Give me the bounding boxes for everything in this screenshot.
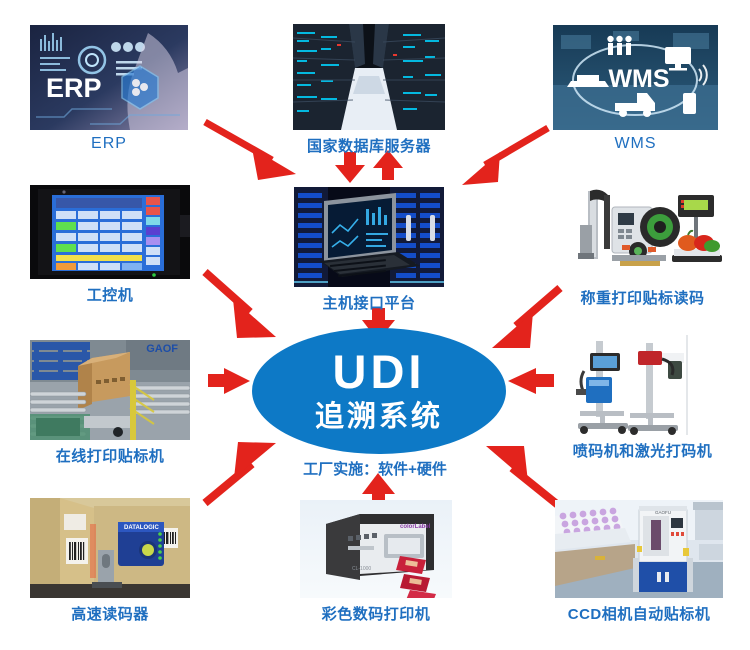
node-ccd-labeler-label: CCD相机自动贴标机: [568, 603, 711, 624]
arrow-coder-to-udi: [508, 368, 554, 394]
node-host-interface-label: 主机接口平台: [322, 292, 415, 313]
node-erp-label: ERP: [91, 135, 127, 153]
arrow-erp-to-host: [205, 122, 296, 180]
ccd-labeler-image: GAOFU: [555, 500, 723, 598]
laser-coder-image: [560, 335, 725, 435]
svg-text:GAOF: GAOF: [146, 343, 178, 355]
node-national-db-label: 国家数据库服务器: [307, 135, 431, 156]
arrow-wms-to-host: [462, 128, 548, 185]
node-industrial-pc-label: 工控机: [87, 284, 134, 305]
udi-title: UDI: [333, 348, 426, 395]
node-weigh-print-label-label: 称重打印贴标读码: [580, 287, 704, 308]
node-color-printer[interactable]: colorLabel CL-1000 彩色数码打印机: [300, 500, 452, 598]
node-laser-coder-label: 喷码机和激光打码机: [573, 440, 713, 461]
arrow-labeler-to-udi: [208, 368, 250, 394]
svg-text:CL-1000: CL-1000: [352, 566, 371, 572]
udi-subtitle: 追溯系统: [315, 403, 443, 432]
node-national-db[interactable]: 国家数据库服务器: [293, 24, 445, 130]
udi-ellipse: UDI 追溯系统: [252, 328, 506, 454]
node-host-interface[interactable]: 主机接口平台: [294, 187, 444, 287]
node-color-printer-label: 彩色数码打印机: [322, 603, 431, 624]
svg-text:ERP: ERP: [46, 73, 102, 103]
node-wms[interactable]: WMS WMS: [553, 25, 718, 130]
svg-text:DATALOGIC: DATALOGIC: [124, 525, 159, 531]
node-high-speed-reader[interactable]: DATALOGIC 高速读码器: [30, 498, 190, 598]
wms-image: WMS: [553, 25, 718, 130]
host-interface-image: [294, 187, 444, 287]
arrow-db-to-host: [335, 152, 365, 183]
arrow-ccd-to-udi: [486, 446, 558, 505]
svg-text:WMS: WMS: [608, 65, 669, 93]
color-printer-image: colorLabel CL-1000: [300, 500, 452, 598]
node-high-speed-reader-label: 高速读码器: [71, 603, 149, 624]
svg-text:colorLabel: colorLabel: [400, 524, 431, 530]
high-speed-reader-image: DATALOGIC: [30, 498, 190, 598]
erp-image: ERP: [30, 25, 188, 130]
node-online-labeler-label: 在线打印贴标机: [56, 445, 165, 466]
node-erp[interactable]: ERP ERP: [30, 25, 188, 130]
industrial-pc-image: [30, 185, 190, 279]
node-online-labeler[interactable]: GAOF 在线打印贴标机: [30, 340, 190, 440]
svg-text:GAOFU: GAOFU: [655, 510, 671, 515]
node-wms-label: WMS: [614, 135, 656, 153]
node-laser-coder[interactable]: 喷码机和激光打码机: [560, 335, 725, 435]
node-ccd-labeler[interactable]: GAOFU CCD相机自动贴标机: [555, 500, 723, 598]
node-industrial-pc[interactable]: 工控机: [30, 185, 190, 279]
national-db-image: [293, 24, 445, 130]
weigh-print-label-image: [560, 185, 725, 282]
udi-center-node[interactable]: UDI 追溯系统: [252, 328, 506, 454]
udi-footnote: 工厂实施：软件+硬件: [303, 458, 447, 479]
diagram-canvas: ERP ERP: [0, 0, 750, 650]
node-weigh-print-label[interactable]: 称重打印贴标读码: [560, 185, 725, 282]
online-labeler-image: GAOF: [30, 340, 190, 440]
